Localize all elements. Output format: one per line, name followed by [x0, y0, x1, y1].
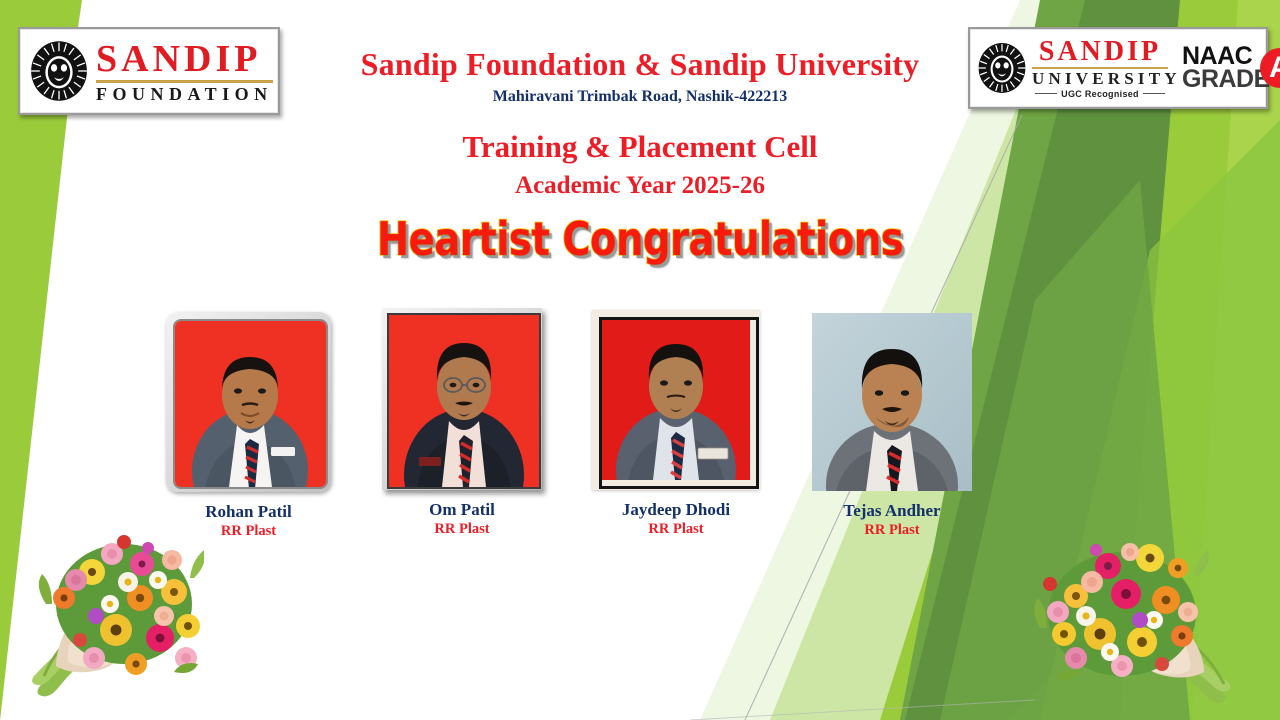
- student-card: Om Patil RR Plast: [382, 308, 542, 538]
- student-photo: [602, 320, 750, 480]
- student-photo: [175, 321, 326, 487]
- department-title: Training & Placement Cell: [0, 129, 1280, 165]
- congratulations-headline: Heartist Congratulations: [45, 212, 1235, 266]
- student-photo: [389, 315, 539, 487]
- flower-bouquet-right: [1030, 524, 1230, 720]
- bouquet-icon: [24, 512, 204, 702]
- student-name: Jaydeep Dhodi: [592, 500, 760, 520]
- student-card: Jaydeep Dhodi RR Plast: [592, 310, 760, 538]
- student-card: Rohan Patil RR Plast: [166, 312, 331, 540]
- student-company: RR Plast: [592, 521, 760, 538]
- student-name: Tejas Andher: [812, 501, 972, 521]
- student-photo-frame: [812, 313, 972, 491]
- bouquet-icon: [1030, 524, 1230, 720]
- student-photo: [812, 313, 972, 491]
- address-line: Mahiravani Trimbak Road, Nashik-422213: [0, 88, 1280, 106]
- academic-year: Academic Year 2025-26: [0, 172, 1280, 200]
- student-company: RR Plast: [382, 521, 542, 538]
- student-card: Tejas Andher RR Plast: [812, 313, 972, 539]
- student-photo-frame: [382, 308, 542, 490]
- congratulations-poster: SANDIP FOUNDATION: [0, 0, 1280, 720]
- student-photo-frame: [166, 312, 331, 492]
- flower-bouquet-left: [24, 512, 204, 702]
- student-company: RR Plast: [812, 522, 972, 539]
- student-photo-frame: [592, 310, 760, 490]
- organization-title: Sandip Foundation & Sandip University: [0, 46, 1280, 83]
- student-name: Om Patil: [382, 500, 542, 520]
